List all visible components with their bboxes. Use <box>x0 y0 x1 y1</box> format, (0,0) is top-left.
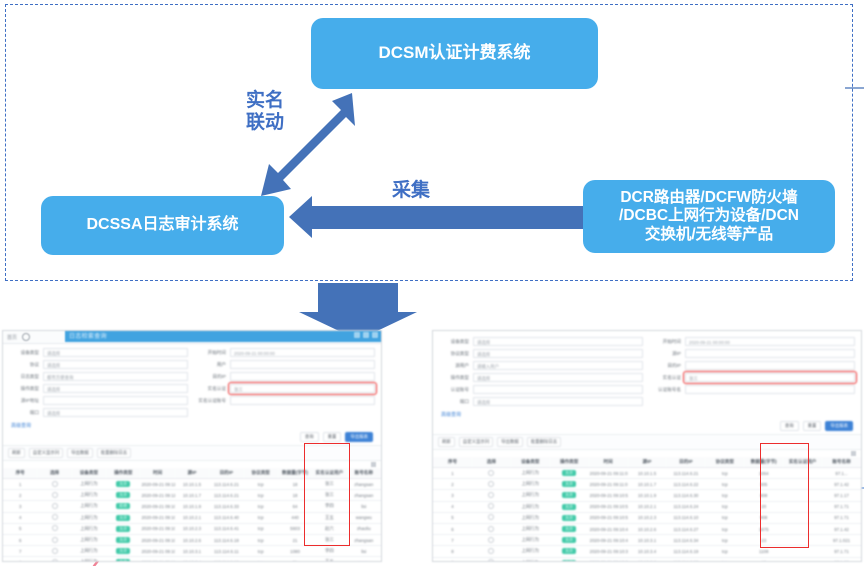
right-field-input[interactable] <box>685 361 855 370</box>
left-data-table[interactable]: 序号选择设备类型操作类型时间源IP目的IP协议类型数据量(字节)实名认证用户账号… <box>3 468 381 562</box>
right-cell-account: 97.1.02 <box>822 557 861 562</box>
right-cell-dip: 113.114.6.21 <box>666 468 705 479</box>
left-cell-proto: tcp <box>244 523 278 534</box>
status-badge: 允许 <box>106 512 140 523</box>
table-row[interactable]: 5上网行为允许2020-09-21 09:10:5010.10.2.3113.1… <box>3 523 381 534</box>
right-field-label: 认证账号 <box>439 387 469 393</box>
right-column-header[interactable]: 实名认证用户 <box>783 457 822 468</box>
row-checkbox[interactable] <box>37 523 71 534</box>
left-cell-realname: 李四 <box>312 501 346 512</box>
left-cell-proto: tcp <box>244 512 278 523</box>
right-column-header[interactable]: 选择 <box>472 457 511 468</box>
screenshot-right-log-query[interactable]: 设备类型请选择协议类型请选择源用户请输入用户操作类型请选择认证账号端口请选择 开… <box>432 330 862 562</box>
left-field-input[interactable] <box>230 360 375 369</box>
row-checkbox[interactable] <box>472 523 511 534</box>
left-window-controls[interactable] <box>354 332 378 338</box>
right-cell-device: 上网行为 <box>511 512 550 523</box>
left-cell-dip: 113.114.6.40 <box>209 512 243 523</box>
right-field-input[interactable] <box>473 385 643 394</box>
collect-arrow-label: 采集 <box>392 180 430 202</box>
row-checkbox[interactable] <box>472 546 511 557</box>
status-badge: 允许 <box>550 523 589 534</box>
right-cell-sip: 10.10.1.5 <box>628 468 667 479</box>
left-cell-account: lisi <box>347 546 381 557</box>
table-row[interactable]: 2上网行为允许2020-09-21 09:11:0110.10.1.7113.1… <box>3 490 381 501</box>
table-row[interactable]: 3上网行为允许2020-09-21 09:10:5810.10.1.9113.1… <box>433 490 861 501</box>
left-column-settings[interactable] <box>3 461 381 468</box>
left-column-header[interactable]: 时间 <box>140 468 174 479</box>
left-field-label: 开始时间 <box>196 350 226 356</box>
right-field-input[interactable]: 张三 <box>685 373 855 382</box>
table-row[interactable]: 2上网行为允许2020-09-21 09:11:0110.10.1.7113.1… <box>433 479 861 490</box>
left-cell-bytes: 1080 <box>278 546 312 557</box>
right-cell-realname <box>783 557 822 562</box>
left-cell-bytes: 18 <box>278 479 312 490</box>
right-cell-realname <box>783 512 822 523</box>
status-badge: 拒绝 <box>106 501 140 512</box>
right-cell-no: 3 <box>433 490 472 501</box>
left-cell-bytes: 18 <box>278 490 312 501</box>
left-action-button[interactable]: 导出报表 <box>345 432 373 442</box>
right-cell-no: 9 <box>433 557 472 562</box>
status-badge-label: 允许 <box>562 560 576 562</box>
left-column-header[interactable]: 操作类型 <box>106 468 140 479</box>
left-cell-account: wangwu <box>347 557 381 562</box>
right-field-label: 源用户 <box>439 363 469 369</box>
right-form-col-1: 设备类型请选择协议类型请选择源用户请输入用户操作类型请选择认证账号端口请选择 <box>439 337 643 406</box>
gear-icon[interactable] <box>851 451 856 456</box>
left-field-input[interactable] <box>230 396 375 405</box>
status-badge-label: 允许 <box>116 492 130 498</box>
left-cell-no: 3 <box>3 501 37 512</box>
table-row[interactable]: 8上网行为允许2020-09-21 09:10:3610.10.3.4113.1… <box>433 546 861 557</box>
left-cell-no: 2 <box>3 490 37 501</box>
status-badge-label: 允许 <box>116 548 130 554</box>
left-table-body: 1上网行为允许2020-09-21 09:11:0310.10.1.5113.1… <box>3 479 381 563</box>
node-log-audit-label: DCSSA日志审计系统 <box>86 216 238 235</box>
left-cell-sip: 10.10.1.9 <box>175 501 209 512</box>
left-toolbar-button[interactable]: 导出数据 <box>67 448 93 458</box>
right-cell-realname <box>783 501 822 512</box>
right-table-header: 序号选择设备类型操作类型时间源IP目的IP协议类型数据量(字节)实名认证用户账号… <box>433 457 861 468</box>
left-field-row: 设备类型请选择 <box>9 348 188 357</box>
right-field-input[interactable]: 请选择 <box>473 373 643 382</box>
status-badge: 允许 <box>550 501 589 512</box>
right-cell-no: 7 <box>433 535 472 546</box>
right-field-row: 实名认证张三 <box>651 373 855 382</box>
left-field-input[interactable]: 请选择 <box>43 408 188 417</box>
right-field-input[interactable] <box>685 385 855 394</box>
right-cell-sip: 10.10.2.6 <box>628 523 667 534</box>
right-field-row: 操作类型请选择 <box>439 373 643 382</box>
right-column-header[interactable]: 账号名称 <box>822 457 861 468</box>
left-cell-realname: 张三 <box>312 490 346 501</box>
right-field-row: 设备类型请选择 <box>439 337 643 346</box>
right-cell-time: 2020-09-21 09:11:03 <box>589 468 628 479</box>
status-badge: 允许 <box>550 479 589 490</box>
left-cell-dip: 113.114.6.19 <box>209 557 243 562</box>
row-checkbox[interactable] <box>472 468 511 479</box>
left-cell-dip: 113.114.6.21 <box>209 479 243 490</box>
left-cell-device: 上网行为 <box>72 523 106 534</box>
right-table-toolbar: 刷新自定义显示列导出数据批量删除日志 <box>433 434 861 450</box>
table-row[interactable]: 4上网行为允许2020-09-21 09:10:5510.10.2.1113.1… <box>433 501 861 512</box>
left-cell-dip: 113.114.6.41 <box>209 523 243 534</box>
right-advanced-section-label[interactable]: 高级查询 <box>433 408 861 420</box>
left-cell-dip: 113.114.6.11 <box>209 546 243 557</box>
status-badge-label: 允许 <box>562 537 576 543</box>
right-cell-account: 97.1.71 <box>822 546 861 557</box>
left-cell-sip: 10.10.2.1 <box>175 512 209 523</box>
left-field-row: 端口请选择 <box>9 408 188 417</box>
right-field-row: 认证账号名 <box>651 385 855 394</box>
left-cell-sip: 10.10.1.7 <box>175 490 209 501</box>
status-badge: 允许 <box>550 468 589 479</box>
right-cell-realname <box>783 468 822 479</box>
left-cell-device: 上网行为 <box>72 512 106 523</box>
right-field-row: 开始时间2020-09-21 00:00:00 <box>651 337 855 346</box>
right-cell-proto: tcp <box>705 523 744 534</box>
right-field-input[interactable]: 请选择 <box>473 337 643 346</box>
left-field-row: 操作类型请选择 <box>9 384 188 393</box>
search-icon[interactable] <box>22 333 30 341</box>
right-cell-sip: 10.10.1.7 <box>628 479 667 490</box>
right-cell-sip: 10.10.3.1 <box>628 535 667 546</box>
table-row[interactable]: 3上网行为拒绝2020-09-21 09:10:5810.10.1.9113.1… <box>3 501 381 512</box>
left-field-row: 开始时间2020-09-21 00:00:00 <box>196 348 375 357</box>
left-cell-no: 1 <box>3 479 37 490</box>
right-cell-bytes: 23 <box>744 535 783 546</box>
left-cell-realname: 张三 <box>312 534 346 545</box>
left-toolbar-button[interactable]: 自定义显示列 <box>29 448 63 458</box>
right-field-input[interactable]: 2020-09-21 00:00:00 <box>685 337 855 346</box>
left-cell-account: wangwu <box>347 512 381 523</box>
right-column-header[interactable]: 数据量(字节) <box>744 457 783 468</box>
right-cell-proto: tcp <box>705 479 744 490</box>
right-cell-proto: tcp <box>705 557 744 562</box>
right-field-row: 目的IP <box>651 361 855 370</box>
status-badge: 允许 <box>550 535 589 546</box>
right-field-input[interactable]: 请选择 <box>473 397 643 406</box>
row-checkbox[interactable] <box>37 546 71 557</box>
right-action-button[interactable]: 查询 <box>780 421 799 431</box>
right-cell-proto: tcp <box>705 501 744 512</box>
right-cell-account: 97.1.42 <box>822 523 861 534</box>
left-field-input[interactable]: 请选择 <box>43 360 188 369</box>
left-window-titlebar: 日志检索查询 <box>65 331 381 342</box>
right-field-input[interactable] <box>685 349 855 358</box>
row-checkbox[interactable] <box>472 501 511 512</box>
left-cell-bytes: 21 <box>278 534 312 545</box>
left-cell-time: 2020-09-21 09:10:36 <box>140 557 174 562</box>
right-cell-proto: tcp <box>705 535 744 546</box>
left-field-label: 实名认证账号 <box>196 398 226 404</box>
left-cell-proto: tcp <box>244 479 278 490</box>
row-checkbox[interactable] <box>37 490 71 501</box>
left-cell-time: 2020-09-21 09:11:01 <box>140 490 174 501</box>
right-cell-account: 97.1.42 <box>822 479 861 490</box>
left-cell-proto: tcp <box>244 557 278 562</box>
right-toolbar-button[interactable]: 自定义显示列 <box>459 437 493 447</box>
right-cell-no: 2 <box>433 479 472 490</box>
table-row[interactable]: 5上网行为允许2020-09-21 09:10:5010.10.2.3113.1… <box>433 512 861 523</box>
left-cell-bytes: 64 <box>278 501 312 512</box>
row-checkbox[interactable] <box>37 501 71 512</box>
right-cell-device: 上网行为 <box>511 557 550 562</box>
left-cell-sip: 10.10.2.6 <box>175 534 209 545</box>
left-form-buttons: 查询重置导出报表 <box>3 431 381 445</box>
row-checkbox[interactable] <box>472 535 511 546</box>
left-search-form: 设备类型请选择协议请选择日志类型都市方便查询操作类型请选择源IP地址端口请选择 … <box>3 344 381 419</box>
right-cell-bytes: 1064 <box>744 468 783 479</box>
right-cell-device: 上网行为 <box>511 535 550 546</box>
left-cell-account: zhangsan <box>347 534 381 545</box>
status-badge-label: 允许 <box>562 515 576 521</box>
right-cell-bytes: 808 <box>744 490 783 501</box>
left-advanced-section-label[interactable]: 高级查询 <box>3 419 381 431</box>
row-checkbox[interactable] <box>37 534 71 545</box>
left-table-toolbar: 刷新自定义显示列导出数据批量删除日志 <box>3 445 381 461</box>
left-action-button[interactable]: 重置 <box>323 432 342 442</box>
right-cell-dip: 113.114.6.63 <box>666 557 705 562</box>
right-toolbar-button[interactable]: 导出数据 <box>497 437 523 447</box>
status-badge: 允许 <box>106 534 140 545</box>
right-cell-device: 上网行为 <box>511 468 550 479</box>
right-cell-time: 2020-09-21 09:10:31 <box>589 557 628 562</box>
row-checkbox[interactable] <box>472 512 511 523</box>
left-cell-proto: tcp <box>244 490 278 501</box>
left-toolbar-button[interactable]: 刷新 <box>8 448 25 458</box>
right-cell-realname <box>783 523 822 534</box>
left-field-label: 设备类型 <box>9 350 39 356</box>
left-cell-sip: 10.10.2.3 <box>175 523 209 534</box>
left-field-row: 用户 <box>196 360 375 369</box>
status-badge-label: 允许 <box>562 492 576 498</box>
left-table-header: 序号选择设备类型操作类型时间源IP目的IP协议类型数据量(字节)实名认证用户账号… <box>3 468 381 479</box>
right-cell-account: 97.1.71 <box>822 512 861 523</box>
right-cell-no: 6 <box>433 523 472 534</box>
right-cell-sip: 10.10.3.4 <box>628 546 667 557</box>
minimize-icon[interactable] <box>354 332 360 338</box>
right-cell-time: 2020-09-21 09:10:50 <box>589 512 628 523</box>
right-field-label: 源IP <box>651 351 681 357</box>
left-field-input[interactable] <box>230 372 375 381</box>
left-column-header[interactable]: 源IP <box>175 468 209 479</box>
left-cell-account: zhangsan <box>347 479 381 490</box>
left-cell-time: 2020-09-21 09:11:03 <box>140 479 174 490</box>
table-row[interactable]: 6上网行为允许2020-09-21 09:10:4510.10.2.6113.1… <box>433 523 861 534</box>
gear-icon[interactable] <box>371 462 376 467</box>
right-toolbar-button[interactable]: 批量删除日志 <box>527 437 561 447</box>
left-field-label: 实名认证 <box>196 386 226 392</box>
left-field-input[interactable]: 2020-09-21 00:00:00 <box>230 348 375 357</box>
row-checkbox[interactable] <box>472 557 511 562</box>
left-toolbar-button[interactable]: 批量删除日志 <box>97 448 131 458</box>
left-column-header[interactable]: 数据量(字节) <box>278 468 312 479</box>
left-field-row: 协议请选择 <box>9 360 188 369</box>
right-cell-proto: tcp <box>705 512 744 523</box>
node-network-devices[interactable]: DCR路由器/DCFW防火墙 /DCBC上网行为设备/DCN 交换机/无线等产品 <box>583 180 835 253</box>
left-field-row: 日志类型都市方便查询 <box>9 372 188 381</box>
left-cell-proto: tcp <box>244 501 278 512</box>
left-column-header[interactable]: 选择 <box>37 468 71 479</box>
right-column-header[interactable]: 序号 <box>433 457 472 468</box>
left-form-col-2: 开始时间2020-09-21 00:00:00用户目的IP实名认证张三实名认证账… <box>196 348 375 417</box>
left-cell-time: 2020-09-21 09:10:40 <box>140 546 174 557</box>
node-auth-billing-system[interactable]: DCSM认证计费系统 <box>311 18 598 89</box>
right-column-header[interactable]: 时间 <box>589 457 628 468</box>
right-cell-dip: 113.114.6.30 <box>666 490 705 501</box>
left-cell-proto: tcp <box>244 546 278 557</box>
right-action-button[interactable]: 重置 <box>803 421 822 431</box>
right-cell-time: 2020-09-21 09:10:40 <box>589 535 628 546</box>
left-cell-dip: 113.114.6.33 <box>209 501 243 512</box>
left-cell-sip: 10.10.1.5 <box>175 479 209 490</box>
left-field-row: 目的IP <box>196 372 375 381</box>
left-column-header[interactable]: 账号名称 <box>347 468 381 479</box>
right-cell-bytes: 305 <box>744 479 783 490</box>
right-search-form: 设备类型请选择协议类型请选择源用户请输入用户操作类型请选择认证账号端口请选择 开… <box>433 331 861 408</box>
left-field-input[interactable]: 都市方便查询 <box>43 372 188 381</box>
left-column-header[interactable]: 设备类型 <box>72 468 106 479</box>
left-field-label: 用户 <box>196 362 226 368</box>
left-cell-account: zhangsan <box>347 490 381 501</box>
right-cell-dip: 113.114.6.10 <box>666 512 705 523</box>
screenshot-left-log-query[interactable]: 首页 日志检索查询 设备类型请选择协议请选择日志类型都市方便查询操作类型请选择源… <box>2 330 382 562</box>
node-log-audit-system[interactable]: DCSSA日志审计系统 <box>41 196 284 255</box>
status-badge-label: 允许 <box>116 559 130 562</box>
right-cell-sip: 10.10.3.8 <box>628 557 667 562</box>
right-field-label: 目的IP <box>651 363 681 369</box>
node-devices-line2: /DCBC上网行为设备/DCN <box>619 207 799 225</box>
status-badge-label: 允许 <box>562 548 576 554</box>
right-form-col-2: 开始时间2020-09-21 00:00:00源IP目的IP实名认证张三认证账号… <box>651 337 855 406</box>
right-toolbar-button[interactable]: 刷新 <box>438 437 455 447</box>
left-cell-account: lisi <box>347 501 381 512</box>
table-row[interactable]: 7上网行为允许2020-09-21 09:10:4010.10.3.1113.1… <box>3 546 381 557</box>
right-column-header[interactable]: 源IP <box>628 457 667 468</box>
right-cell-realname <box>783 535 822 546</box>
right-field-row: 源IP <box>651 349 855 358</box>
node-devices-line3: 交换机/无线等产品 <box>645 226 773 244</box>
left-cell-device: 上网行为 <box>72 479 106 490</box>
left-cell-dip: 113.114.6.21 <box>209 490 243 501</box>
right-cell-account: 97.1.17 <box>822 490 861 501</box>
left-cell-device: 上网行为 <box>72 546 106 557</box>
right-field-input[interactable]: 请选择 <box>473 349 643 358</box>
left-cell-realname: 王五 <box>312 512 346 523</box>
right-data-table[interactable]: 序号选择设备类型操作类型时间源IP目的IP协议类型数据量(字节)实名认证用户账号… <box>433 457 861 562</box>
left-action-button[interactable]: 查询 <box>300 432 319 442</box>
table-row[interactable]: 9上网行为允许2020-09-21 09:10:3110.10.3.8113.1… <box>433 557 861 562</box>
left-breadcrumb-bar: 首页 日志检索查询 <box>3 331 381 344</box>
right-cell-proto: tcp <box>705 468 744 479</box>
row-checkbox[interactable] <box>472 490 511 501</box>
left-cell-realname: 王五 <box>312 557 346 562</box>
right-column-settings[interactable] <box>433 450 861 457</box>
right-action-button[interactable]: 导出报表 <box>825 421 853 431</box>
right-cell-time: 2020-09-21 09:10:58 <box>589 490 628 501</box>
right-cell-bytes: 1108 <box>744 546 783 557</box>
left-field-input[interactable]: 张三 <box>230 384 375 393</box>
row-checkbox[interactable] <box>37 479 71 490</box>
left-cell-device: 上网行为 <box>72 557 106 562</box>
status-badge: 允许 <box>106 523 140 534</box>
status-badge: 允许 <box>550 490 589 501</box>
row-checkbox[interactable] <box>37 512 71 523</box>
node-auth-billing-label: DCSM认证计费系统 <box>378 43 530 63</box>
left-cell-bytes: 5603 <box>278 523 312 534</box>
status-badge: 允许 <box>106 546 140 557</box>
right-field-row: 端口请选择 <box>439 397 643 406</box>
left-field-label: 源IP地址 <box>9 398 39 404</box>
left-field-input[interactable] <box>43 396 188 405</box>
left-form-col-1: 设备类型请选择协议请选择日志类型都市方便查询操作类型请选择源IP地址端口请选择 <box>9 348 188 417</box>
right-cell-no: 1 <box>433 468 472 479</box>
left-cell-no: 8 <box>3 557 37 562</box>
left-column-header[interactable]: 序号 <box>3 468 37 479</box>
right-cell-dip: 113.114.6.27 <box>666 523 705 534</box>
table-row[interactable]: 7上网行为允许2020-09-21 09:10:4010.10.3.1113.1… <box>433 535 861 546</box>
right-field-input[interactable]: 请输入用户 <box>473 361 643 370</box>
left-cell-sip: 10.10.3.1 <box>175 546 209 557</box>
right-cell-account: 97.1.021 <box>822 535 861 546</box>
close-icon[interactable] <box>372 332 378 338</box>
right-cell-realname <box>783 546 822 557</box>
table-row[interactable]: 6上网行为允许2020-09-21 09:10:4510.10.2.6113.1… <box>3 534 381 545</box>
right-cell-no: 8 <box>433 546 472 557</box>
right-column-header[interactable]: 设备类型 <box>511 457 550 468</box>
maximize-icon[interactable] <box>363 332 369 338</box>
right-cell-realname <box>783 479 822 490</box>
left-cell-bytes: 440 <box>278 512 312 523</box>
left-column-header[interactable]: 目的IP <box>209 468 243 479</box>
left-field-input[interactable]: 请选择 <box>43 384 188 393</box>
right-column-header[interactable]: 目的IP <box>666 457 705 468</box>
table-row[interactable]: 1上网行为允许2020-09-21 09:11:0310.10.1.5113.1… <box>433 468 861 479</box>
table-row[interactable]: 4上网行为允许2020-09-21 09:10:5510.10.2.1113.1… <box>3 512 381 523</box>
right-cell-device: 上网行为 <box>511 479 550 490</box>
row-checkbox[interactable] <box>37 557 71 562</box>
row-checkbox[interactable] <box>472 479 511 490</box>
right-field-label: 认证账号名 <box>651 387 681 393</box>
right-table-body: 1上网行为允许2020-09-21 09:11:0310.10.1.5113.1… <box>433 468 861 563</box>
status-badge: 允许 <box>106 557 140 562</box>
right-cell-device: 上网行为 <box>511 546 550 557</box>
left-field-label: 协议 <box>9 362 39 368</box>
table-row[interactable]: 8上网行为允许2020-09-21 09:10:3610.10.3.4113.1… <box>3 557 381 562</box>
right-column-header[interactable]: 协议类型 <box>705 457 744 468</box>
left-cell-device: 上网行为 <box>72 501 106 512</box>
table-row[interactable]: 1上网行为允许2020-09-21 09:11:0310.10.1.5113.1… <box>3 479 381 490</box>
right-cell-account: 97.1.71 <box>822 501 861 512</box>
right-cell-time: 2020-09-21 09:10:55 <box>589 501 628 512</box>
left-field-input[interactable]: 请选择 <box>43 348 188 357</box>
left-field-label: 操作类型 <box>9 386 39 392</box>
status-badge: 允许 <box>106 479 140 490</box>
right-column-header[interactable]: 操作类型 <box>550 457 589 468</box>
left-cell-realname: 李四 <box>312 546 346 557</box>
left-field-row: 实名认证张三 <box>196 384 375 393</box>
left-cell-realname: 张三 <box>312 479 346 490</box>
left-cell-time: 2020-09-21 09:10:50 <box>140 523 174 534</box>
right-cell-time: 2020-09-21 09:11:01 <box>589 479 628 490</box>
left-column-header[interactable]: 协议类型 <box>244 468 278 479</box>
realname-label-line1: 实名 <box>246 90 284 112</box>
status-badge-label: 允许 <box>116 481 130 487</box>
left-column-header[interactable]: 实名认证用户 <box>312 468 346 479</box>
right-cell-proto: tcp <box>705 490 744 501</box>
